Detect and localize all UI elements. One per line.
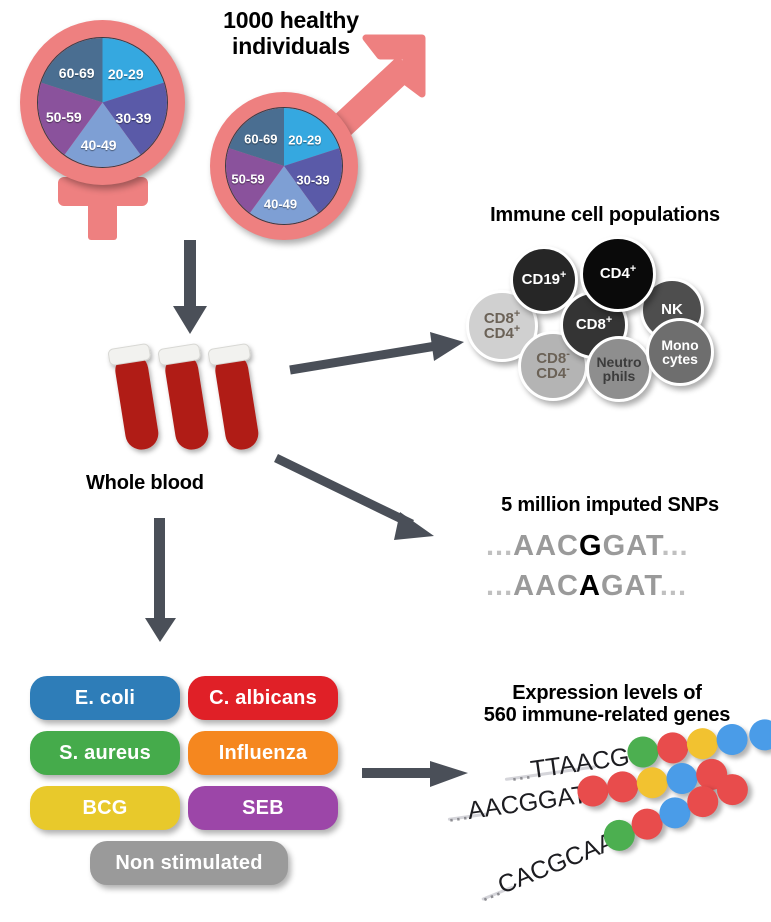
stimulus-non-stimulated-label: Non stimulated xyxy=(115,852,262,875)
expression-heading-line1: Expression levels of xyxy=(452,682,762,704)
snp-row-1-left: AAC xyxy=(513,530,579,562)
stimulus-bcg-label: BCG xyxy=(82,797,127,820)
snp-row-2-left: AAC xyxy=(513,570,579,602)
stimulus-c-albicans-label: C. albicans xyxy=(209,687,317,710)
arrow-blood-to-immune xyxy=(288,328,468,378)
male-pie-label-30-39: 30-39 xyxy=(296,172,329,187)
stimulus-non-stimulated[interactable]: Non stimulated xyxy=(90,841,288,885)
expression-strand-3-bases: CACGCAA xyxy=(494,827,619,899)
snp-row-1-prefix: ... xyxy=(486,530,513,562)
immune-cell-cd8neg-cd4neg-line1: CD8- xyxy=(536,351,570,366)
female-pie-label-20-29: 20-29 xyxy=(108,66,144,82)
snp-row-2-variant: A xyxy=(579,570,601,602)
expression-heading-line2: 560 immune-related genes xyxy=(452,704,762,726)
expression-strand-3-seq: ...CACGCAA xyxy=(475,827,620,908)
snps-heading: 5 million imputed SNPs xyxy=(470,494,750,516)
male-pie-label-40-49: 40-49 xyxy=(264,197,297,212)
male-symbol-arrowhead xyxy=(346,34,428,114)
arrow-blood-to-snps xyxy=(274,452,454,552)
expression-strand-2-seq: ...AACGGAT xyxy=(445,781,589,829)
snp-row-1: ...AACGGAT... xyxy=(486,530,689,563)
stimulus-seb-label: SEB xyxy=(242,797,284,820)
whole-blood-tubes xyxy=(100,340,290,460)
female-age-pie: 20-29 30-39 40-49 50-59 60-69 xyxy=(37,37,168,168)
expression-strand-1-bead-5 xyxy=(747,717,771,752)
snp-sequences: ...AACGGAT... ...AACAGAT... xyxy=(486,530,746,620)
stimulus-e-coli[interactable]: E. coli xyxy=(30,676,180,720)
female-pie-label-40-49: 40-49 xyxy=(81,137,117,153)
stimulus-c-albicans[interactable]: C. albicans xyxy=(188,676,338,720)
immune-cell-monocytes-line2: cytes xyxy=(662,352,698,366)
stimulus-seb[interactable]: SEB xyxy=(188,786,338,830)
stimulus-influenza[interactable]: Influenza xyxy=(188,731,338,775)
stimulus-e-coli-label: E. coli xyxy=(75,687,135,710)
snp-row-1-variant: G xyxy=(579,530,603,562)
snp-row-2-right: GAT xyxy=(601,570,660,602)
arrow-cohort-to-blood xyxy=(170,240,210,336)
arrow-blood-to-stimuli xyxy=(140,518,180,644)
immune-cell-monocytes: Mono cytes xyxy=(646,318,714,386)
expression-strand-2-bead-2 xyxy=(605,769,640,804)
immune-heading: Immune cell populations xyxy=(450,204,760,226)
male-age-pie: 20-29 30-39 40-49 50-59 60-69 xyxy=(225,107,343,225)
immune-cell-cd4-label: CD4+ xyxy=(600,266,636,281)
expression-strand-2-bead-3 xyxy=(635,765,670,800)
snp-row-2-prefix: ... xyxy=(486,570,513,602)
immune-cell-nk-label: NK xyxy=(661,302,683,317)
expression-strand-2-bases: AACGGAT xyxy=(466,781,589,825)
snp-row-1-suffix: ... xyxy=(661,530,688,562)
female-pie-label-30-39: 30-39 xyxy=(116,110,152,126)
whole-blood-label: Whole blood xyxy=(86,472,246,494)
male-symbol: 20-29 30-39 40-49 50-59 60-69 xyxy=(198,36,423,246)
male-pie-label-60-69: 60-69 xyxy=(244,132,277,147)
female-pie-label-60-69: 60-69 xyxy=(59,65,95,81)
stimuli-panel: E. coli C. albicans S. aureus Influenza … xyxy=(30,676,340,896)
stimulus-s-aureus-label: S. aureus xyxy=(59,742,151,765)
expression-heading: Expression levels of 560 immune-related … xyxy=(452,682,762,727)
expression-strand-1-bead-4 xyxy=(715,722,750,757)
snp-row-2-suffix: ... xyxy=(660,570,687,602)
stimulus-bcg[interactable]: BCG xyxy=(30,786,180,830)
cohort-headline-line1: 1000 healthy xyxy=(176,8,406,34)
immune-cell-cd4: CD4+ xyxy=(580,236,656,312)
immune-cell-cd19-label: CD19+ xyxy=(522,272,567,287)
snp-row-1-right: GAT xyxy=(603,530,662,562)
male-pie-label-20-29: 20-29 xyxy=(288,133,321,148)
female-pie-label-50-59: 50-59 xyxy=(46,109,82,125)
snp-row-2: ...AACAGAT... xyxy=(486,570,687,603)
immune-cell-cd8-label: CD8+ xyxy=(576,317,612,332)
immune-cell-monocytes-line1: Mono xyxy=(661,338,698,352)
figure-canvas: 1000 healthy individuals 20-29 30-39 40-… xyxy=(0,0,771,922)
blood-tubes-svg xyxy=(100,340,290,460)
expression-strand-1-bead-2 xyxy=(655,730,690,765)
immune-cell-neutrophils: Neutro phils xyxy=(586,336,652,402)
stimulus-s-aureus[interactable]: S. aureus xyxy=(30,731,180,775)
immune-cell-cluster: CD19+ CD4+ NK CD8+ CD4+ CD8+ CD8- CD4- N… xyxy=(460,236,760,416)
immune-cell-cd8neg-cd4neg-line2: CD4- xyxy=(536,366,570,381)
male-pie-label-50-59: 50-59 xyxy=(231,171,264,186)
expression-strands: ...TTAACGG ...AACGGAT ...CACGCAA xyxy=(430,748,771,918)
immune-cell-cd8pos-cd4pos-line2: CD4+ xyxy=(484,326,520,341)
immune-cell-neutrophils-line1: Neutro xyxy=(596,355,641,369)
expression-strand-1-bead-3 xyxy=(685,726,720,761)
female-symbol: 20-29 30-39 40-49 50-59 60-69 xyxy=(10,14,200,244)
immune-cell-neutrophils-line2: phils xyxy=(603,369,636,383)
stimulus-influenza-label: Influenza xyxy=(219,742,307,765)
